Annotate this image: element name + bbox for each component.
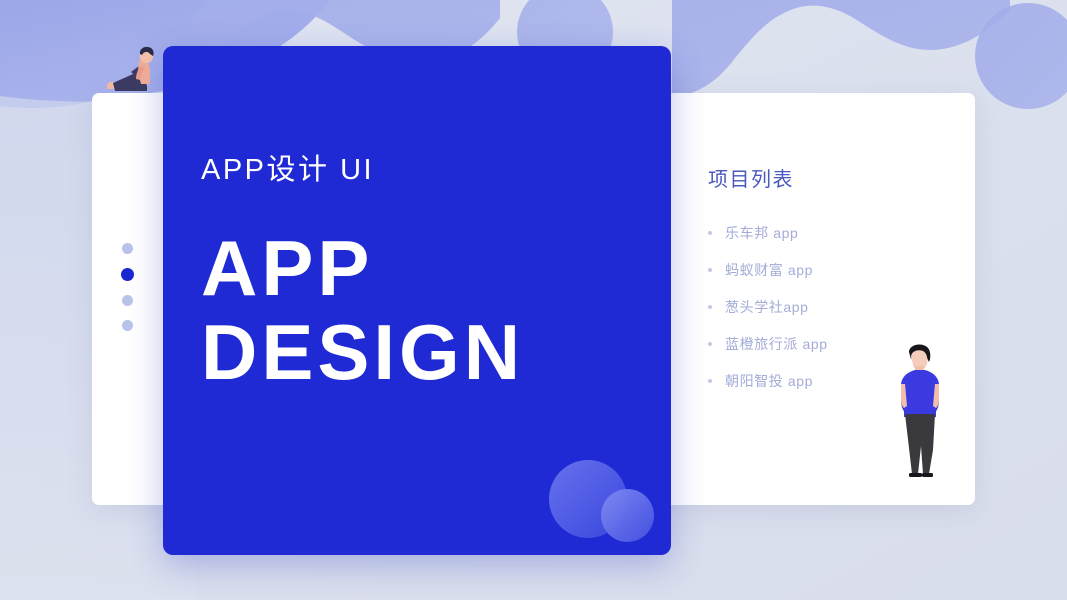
list-item-label: 乐车邦 app bbox=[725, 223, 798, 243]
circle-decoration-small-icon bbox=[601, 489, 654, 542]
project-list-heading: 项目列表 bbox=[708, 163, 958, 192]
blue-card-text-block: APP设计 UI APP DESIGN bbox=[201, 156, 641, 390]
pagination-dot-4[interactable] bbox=[122, 320, 133, 331]
slide-subtitle: APP设计 UI bbox=[201, 156, 641, 185]
bullet-icon bbox=[708, 379, 712, 383]
bullet-icon bbox=[708, 268, 712, 272]
list-item[interactable]: 蚂蚁财富 app bbox=[708, 251, 958, 288]
pagination-dot-2-active[interactable] bbox=[121, 268, 134, 281]
blue-title-card: APP设计 UI APP DESIGN bbox=[163, 46, 671, 555]
bullet-icon bbox=[708, 342, 712, 346]
pagination-dots[interactable] bbox=[118, 243, 136, 331]
person-sitting-illustration bbox=[103, 46, 165, 94]
list-item-label: 朝阳智投 app bbox=[725, 371, 813, 391]
slide-canvas: APP设计 UI APP DESIGN 项目列表 乐车邦 app 蚂蚁财富 ap… bbox=[0, 0, 1067, 600]
pagination-dot-1[interactable] bbox=[122, 243, 133, 254]
list-item-label: 蚂蚁财富 app bbox=[725, 260, 813, 280]
list-item[interactable]: 乐车邦 app bbox=[708, 214, 958, 251]
list-item[interactable]: 葱头学社app bbox=[708, 288, 958, 325]
bullet-icon bbox=[708, 231, 712, 235]
list-item-label: 蓝橙旅行派 app bbox=[725, 334, 828, 354]
person-standing-illustration bbox=[888, 344, 950, 484]
slide-title-line-1: APP bbox=[201, 231, 641, 307]
list-item-label: 葱头学社app bbox=[725, 297, 809, 317]
bullet-icon bbox=[708, 305, 712, 309]
slide-title-line-2: DESIGN bbox=[201, 315, 641, 391]
pagination-dot-3[interactable] bbox=[122, 295, 133, 306]
